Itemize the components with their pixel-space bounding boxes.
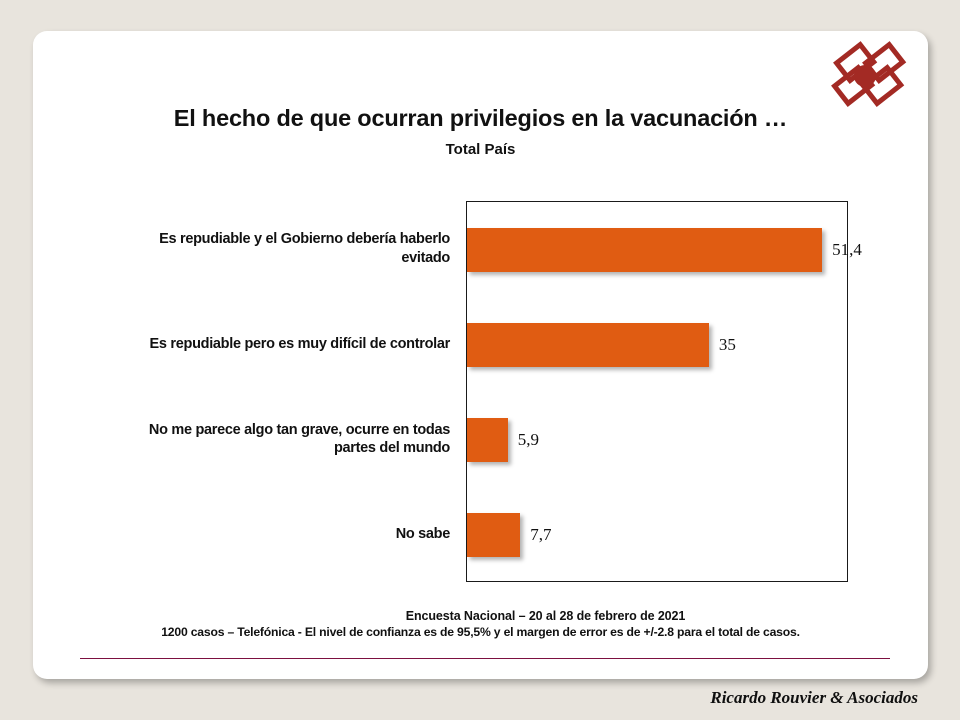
bar-value-label: 7,7: [530, 525, 551, 545]
page-title: El hecho de que ocurran privilegios en l…: [33, 105, 928, 132]
category-label: Es repudiable pero es muy difícil de con…: [150, 335, 458, 354]
chart-plot-area: 51,4 35 5,9 7,7: [466, 201, 848, 582]
survey-method-note: 1200 casos – Telefónica - El nivel de co…: [33, 625, 928, 639]
survey-source-note: Encuesta Nacional – 20 al 28 de febrero …: [33, 609, 928, 623]
bar-row: 35: [467, 297, 847, 392]
slide-card: El hecho de que ocurran privilegios en l…: [33, 31, 928, 679]
bar-row: 7,7: [467, 488, 847, 583]
category-axis-labels: Es repudiable y el Gobierno debería habe…: [128, 201, 458, 582]
category-row: Es repudiable y el Gobierno debería habe…: [128, 201, 458, 296]
bars-layer: 51,4 35 5,9 7,7: [467, 202, 847, 581]
bar-value-label: 5,9: [518, 430, 539, 450]
bar[interactable]: [467, 418, 508, 462]
bar-row: 5,9: [467, 393, 847, 488]
category-row: Es repudiable pero es muy difícil de con…: [128, 296, 458, 391]
bar[interactable]: [467, 228, 822, 272]
bar-row: 51,4: [467, 202, 847, 297]
chart-subtitle: Total País: [33, 141, 928, 158]
bar[interactable]: [467, 323, 709, 367]
bar[interactable]: [467, 513, 520, 557]
bar-value-label: 51,4: [832, 240, 862, 260]
category-row: No me parece algo tan grave, ocurre en t…: [128, 392, 458, 487]
footnote-block: Encuesta Nacional – 20 al 28 de febrero …: [33, 609, 928, 639]
bar-value-label: 35: [719, 335, 736, 355]
category-row: No sabe: [128, 487, 458, 582]
category-label: No sabe: [396, 525, 458, 544]
footer-divider: [80, 658, 890, 659]
category-label: Es repudiable y el Gobierno debería habe…: [128, 230, 458, 267]
category-label: No me parece algo tan grave, ocurre en t…: [128, 421, 458, 458]
brand-footer: Ricardo Rouvier & Asociados: [0, 688, 940, 708]
